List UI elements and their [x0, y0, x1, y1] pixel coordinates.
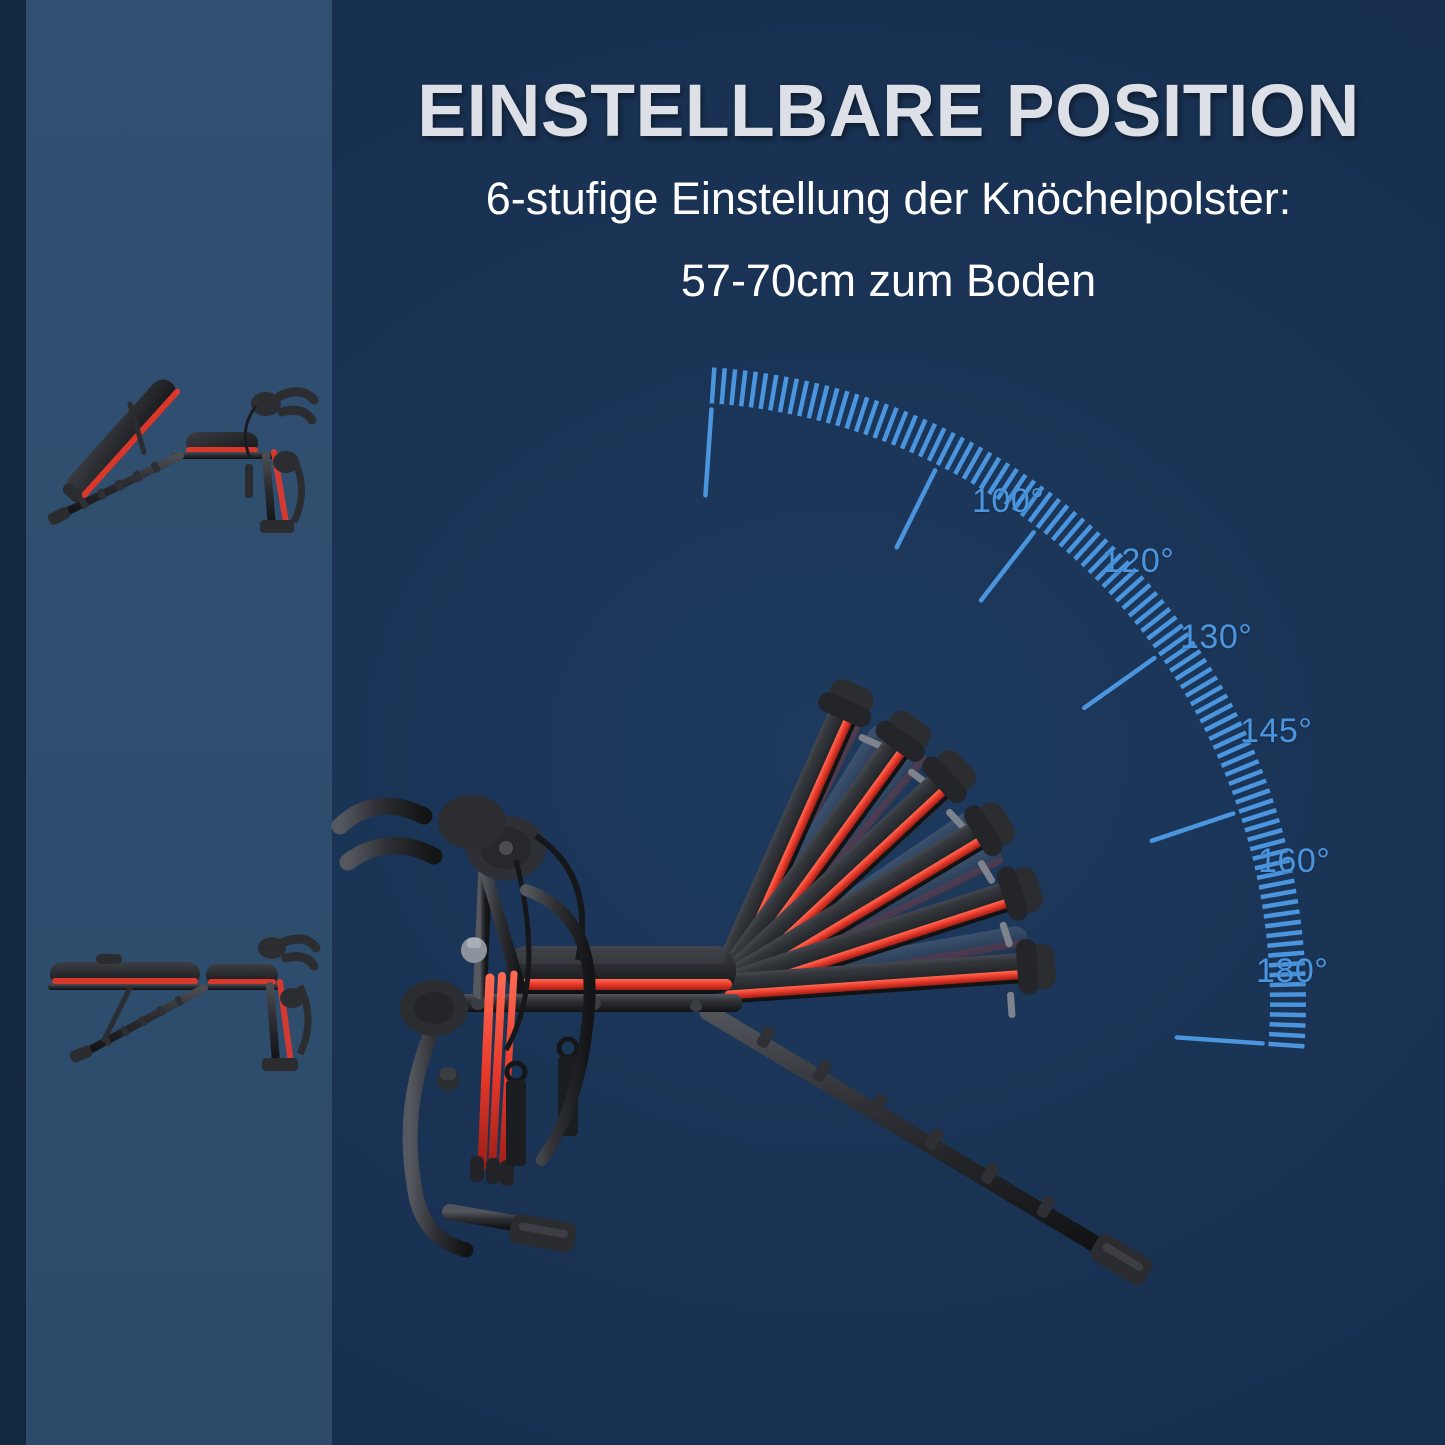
product-feature-banner: EINSTELLBARE POSITION 6-stufige Einstell… [0, 0, 1445, 1445]
left-dark-rail [0, 0, 26, 1445]
left-thumbnail-panel [26, 0, 332, 1445]
